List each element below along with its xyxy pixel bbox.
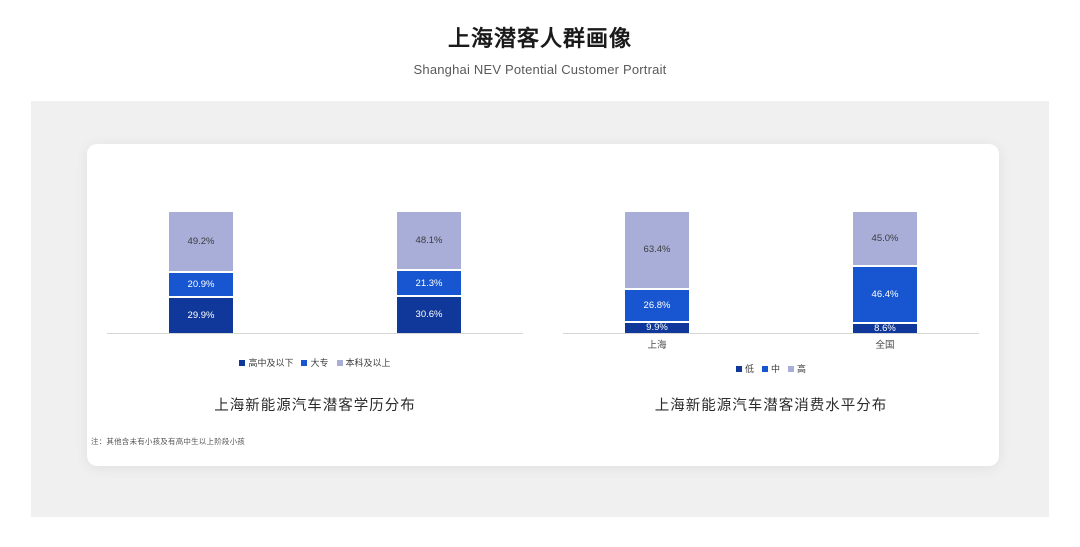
bar-segment[interactable]: 30.6% [397,296,461,334]
legend-item[interactable]: 中 [762,362,780,375]
legend-label: 本科及以上 [346,356,391,369]
chart-2: 63.4%26.8%9.9%45.0%46.4%8.6%上海全国低中高上海新能源… [543,144,999,466]
bar-segment[interactable]: 26.8% [625,289,689,322]
page-subtitle: Shanghai NEV Potential Customer Portrait [0,61,1080,79]
chart-caption: 上海新能源汽车潜客消费水平分布 [543,394,999,415]
x-axis-tick-label: 上海 [625,337,689,351]
bar-segment[interactable]: 20.9% [169,272,233,298]
charts-card: 49.2%20.9%29.9%48.1%21.3%30.6%..高中及以下大专本… [87,144,999,466]
bar-segment-label: 45.0% [872,234,899,244]
bar-segment[interactable]: 21.3% [397,270,461,296]
bar-segment-label: 46.4% [872,290,899,300]
bars-group: 63.4%26.8%9.9%45.0%46.4%8.6% [543,144,999,334]
plot-area: 49.2%20.9%29.9%48.1%21.3%30.6% [87,144,543,334]
legend-item[interactable]: 低 [736,362,754,375]
bar-segment-label: 63.4% [644,245,671,255]
stacked-bar[interactable]: 45.0%46.4%8.6% [853,211,917,334]
legend-swatch-icon [301,360,307,366]
legend-item[interactable]: 高中及以下 [239,356,293,369]
legend-label: 高 [797,362,806,375]
x-axis-labels: .. [87,334,543,354]
stacked-bar[interactable]: 49.2%20.9%29.9% [169,211,233,334]
chart-1: 49.2%20.9%29.9%48.1%21.3%30.6%..高中及以下大专本… [87,144,543,466]
legend-label: 大专 [310,356,328,369]
bar-segment-label: 29.9% [188,311,215,321]
bar-segment-label: 9.9% [646,323,668,333]
legend-item[interactable]: 本科及以上 [337,356,391,369]
bar-segment[interactable]: 45.0% [853,211,917,266]
legend-item[interactable]: 大专 [301,356,328,369]
bar-segment-label: 48.1% [416,236,443,246]
charts-container: 49.2%20.9%29.9%48.1%21.3%30.6%..高中及以下大专本… [87,144,999,466]
slide-page: 上海潜客人群画像 Shanghai NEV Potential Customer… [0,0,1080,547]
chart-legend: 低中高 [543,362,999,375]
x-axis-labels: 上海全国 [543,334,999,354]
legend-swatch-icon [788,366,794,372]
legend-label: 高中及以下 [248,356,293,369]
bar-segment[interactable]: 63.4% [625,211,689,289]
page-title: 上海潜客人群画像 [0,24,1080,54]
footnote: 注：其他含未有小孩及有高中生以上阶段小孩 [87,436,999,447]
legend-swatch-icon [736,366,742,372]
legend-label: 低 [745,362,754,375]
stacked-bar[interactable]: 48.1%21.3%30.6% [397,211,461,334]
legend-swatch-icon [239,360,245,366]
legend-item[interactable]: 高 [788,362,806,375]
bar-segment-label: 26.8% [644,301,671,311]
legend-label: 中 [771,362,780,375]
bar-segment-label: 20.9% [188,280,215,290]
chart-caption: 上海新能源汽车潜客学历分布 [87,394,543,415]
bar-segment-label: 49.2% [188,237,215,247]
bar-segment-label: 21.3% [416,279,443,289]
legend-swatch-icon [762,366,768,372]
chart-legend: 高中及以下大专本科及以上 [87,356,543,369]
plot-area: 63.4%26.8%9.9%45.0%46.4%8.6% [543,144,999,334]
bar-segment[interactable]: 49.2% [169,211,233,272]
legend-swatch-icon [337,360,343,366]
bar-segment-label: 30.6% [416,310,443,320]
bar-segment[interactable]: 29.9% [169,297,233,334]
x-axis-tick-label: 全国 [853,337,917,351]
stacked-bar[interactable]: 63.4%26.8%9.9% [625,211,689,334]
bars-group: 49.2%20.9%29.9%48.1%21.3%30.6% [87,144,543,334]
page-header: 上海潜客人群画像 Shanghai NEV Potential Customer… [0,0,1080,79]
bar-segment[interactable]: 46.4% [853,266,917,323]
bar-segment[interactable]: 48.1% [397,211,461,270]
